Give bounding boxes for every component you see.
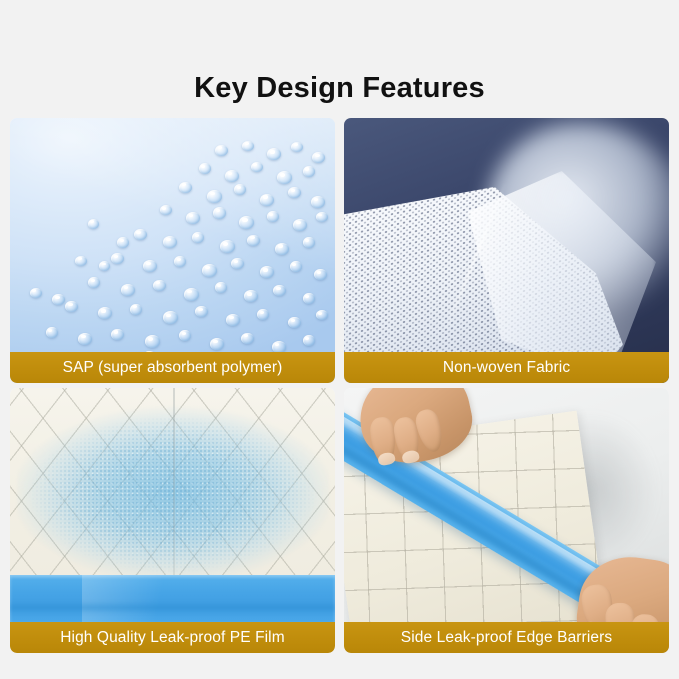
pe-film-crease — [173, 388, 175, 595]
feature-card-pe-film[interactable]: High Quality Leak-proof PE Film — [10, 388, 335, 653]
feature-caption-non-woven: Non-woven Fabric — [344, 352, 669, 383]
feature-grid: SAP (super absorbent polymer) Non-woven … — [10, 118, 669, 653]
feature-card-sap[interactable]: SAP (super absorbent polymer) — [10, 118, 335, 383]
page-title: Key Design Features — [0, 71, 679, 105]
sap-photo — [10, 118, 335, 383]
feature-caption-pe-film: High Quality Leak-proof PE Film — [10, 622, 335, 653]
feature-caption-sap: SAP (super absorbent polymer) — [10, 352, 335, 383]
key-design-features-page: Key Design Features — [0, 0, 679, 679]
feature-card-non-woven[interactable]: Non-woven Fabric — [344, 118, 669, 383]
sap-beads-cluster — [10, 118, 335, 383]
edge-barriers-photo — [344, 388, 669, 653]
pe-film-blue-strip — [10, 575, 335, 622]
feature-caption-edge-barriers: Side Leak-proof Edge Barriers — [344, 622, 669, 653]
pe-film-photo — [10, 388, 335, 653]
non-woven-photo — [344, 118, 669, 383]
feature-card-edge-barriers[interactable]: Side Leak-proof Edge Barriers — [344, 388, 669, 653]
